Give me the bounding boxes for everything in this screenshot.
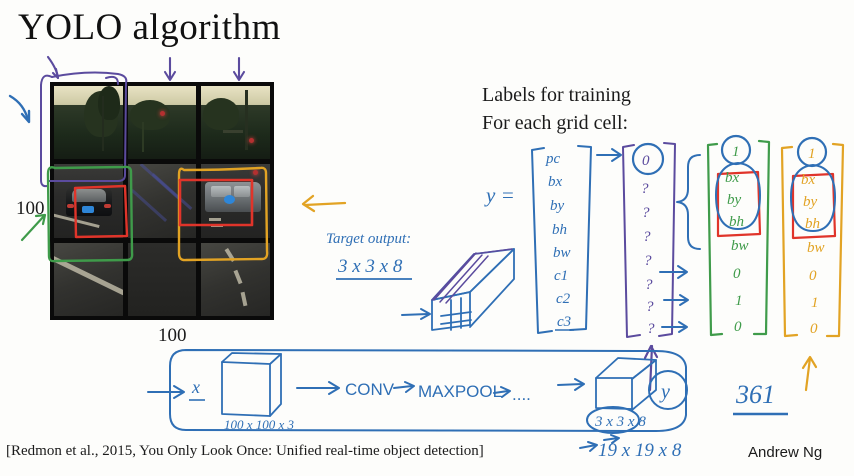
green-bbox-circle (716, 163, 760, 229)
orange-component-1: bx (801, 172, 816, 188)
pipeline-input-arrow-icon (148, 386, 184, 398)
y-component-1: bx (548, 174, 563, 190)
network-output-var: y (659, 381, 670, 403)
target-output-arrow-icon (402, 309, 430, 319)
y-vector-components: pc bx by bh bw c1 c2 c3 (545, 151, 571, 330)
orange-bbox-highlight (793, 174, 835, 238)
green-component-3: bh (729, 214, 744, 230)
empty-component-7: ? (647, 321, 655, 337)
image-height-label: 100 (16, 198, 45, 220)
zero-highlight-circle (633, 144, 663, 174)
labels-subheading: For each grid cell: (482, 112, 628, 135)
target-output-volume-depth (432, 249, 512, 303)
grid-cell-2-1 (54, 164, 123, 237)
class-indicator-arrows-icon (660, 266, 688, 332)
network-output-shape: 3 x 3 x 8 (594, 414, 646, 430)
citation-text: [Redmon et al., 2015, You Only Look Once… (6, 443, 484, 460)
grid-cell-1-3 (201, 86, 270, 159)
grid-cell-3-2 (128, 243, 197, 316)
grid-cell-count: 361 (735, 380, 775, 409)
empty-vector-bracket (623, 143, 675, 337)
grid-cell-1-2 (128, 86, 197, 159)
green-component-7: 0 (734, 319, 742, 335)
left-blue-arrow-icon (10, 96, 29, 122)
maxpool-layer-label: MAXPOOL (418, 382, 502, 401)
green-component-4: bw (731, 238, 749, 254)
target-output-volume (432, 249, 514, 330)
grid-cell-2-3 (201, 164, 270, 237)
conv-layer-label: CONV (345, 380, 395, 399)
orange-bbox-circle (791, 165, 835, 231)
y-component-4: bw (553, 245, 571, 261)
to-output-arrow-icon (558, 379, 584, 390)
to-conv-arrow-icon (297, 382, 339, 394)
green-vector-components: 1 bx by bh bw 0 1 0 (725, 144, 749, 335)
network-input-label: x (191, 377, 200, 397)
orange-up-arrow-icon (803, 357, 816, 390)
orange-component-2: by (803, 194, 818, 210)
green-component-5: 0 (733, 266, 741, 282)
target-output-shape: 3 x 3 x 8 (337, 256, 403, 277)
labels-heading: Labels for training (482, 84, 631, 107)
y-component-7: c3 (557, 314, 571, 330)
output-volume-box (596, 358, 656, 410)
grid-cell-3-3 (201, 243, 270, 316)
output-shape-circle (587, 407, 639, 433)
grouping-brace-icon (677, 155, 700, 249)
pipeline-outline (170, 350, 686, 431)
green-component-6: 1 (735, 293, 743, 309)
orange-left-arrow-icon (303, 196, 345, 211)
orange-component-3: bh (805, 216, 820, 232)
green-component-2: by (727, 192, 742, 208)
orange-component-0: 1 (808, 146, 816, 162)
orange-vector-bracket (782, 144, 843, 336)
purple-up-arrow-icon (645, 346, 657, 390)
y-to-empty-vector-arrow-icon (597, 149, 621, 161)
citation-end-arrow-icon (604, 435, 619, 443)
orange-pc-circle (798, 138, 826, 166)
conv-to-pool-arrow-icon (394, 382, 414, 392)
green-component-1: bx (725, 170, 740, 186)
finer-grid-shape: 19 x 19 x 8 (598, 440, 682, 461)
orange-component-7: 0 (810, 321, 818, 337)
y-component-0: pc (545, 151, 561, 167)
orange-vector-components: 1 bx by bh bw 0 1 0 (801, 146, 825, 337)
grid-column-arrows-icon (48, 57, 244, 80)
page-title: YOLO algorithm (18, 6, 281, 49)
author-name: Andrew Ng (748, 444, 822, 461)
green-pc-circle (722, 136, 750, 164)
empty-component-0: 0 (642, 153, 650, 169)
orange-component-6: 1 (811, 295, 819, 311)
slide-canvas: YOLO algorithm (0, 0, 854, 476)
y-component-6: c2 (556, 291, 571, 307)
empty-vector-components: 0 ? ? ? ? ? ? ? (641, 153, 655, 337)
target-output-label: Target output: (326, 231, 411, 247)
empty-component-5: ? (645, 277, 653, 293)
image-width-label: 100 (158, 325, 187, 347)
orange-component-5: 0 (809, 268, 817, 284)
y-label: y = (484, 183, 515, 207)
input-volume-cube (222, 353, 281, 416)
green-bbox-highlight (718, 172, 760, 236)
pool-to-more-arrow-icon (494, 387, 510, 397)
empty-component-3: ? (643, 229, 651, 245)
green-component-0: 1 (732, 144, 740, 160)
y-vector-bracket (532, 146, 591, 333)
empty-component-6: ? (646, 299, 654, 315)
output-var-circle (649, 371, 687, 409)
network-input-shape: 100 x 100 x 3 (224, 417, 295, 432)
y-component-2: by (550, 198, 565, 214)
finer-grid-arrow-icon (580, 442, 597, 451)
empty-component-2: ? (642, 205, 650, 221)
grid-cell-2-2 (128, 164, 197, 237)
grid-cell-1-1 (54, 86, 123, 159)
y-component-5: c1 (554, 268, 568, 284)
green-vector-bracket (708, 141, 769, 335)
empty-component-1: ? (641, 181, 649, 197)
grid-cell-3-1 (54, 243, 123, 316)
empty-component-4: ? (644, 253, 652, 269)
grid-image (50, 82, 274, 320)
orange-component-4: bw (807, 240, 825, 256)
y-component-3: bh (552, 222, 567, 238)
more-layers-label: .... (512, 385, 531, 404)
